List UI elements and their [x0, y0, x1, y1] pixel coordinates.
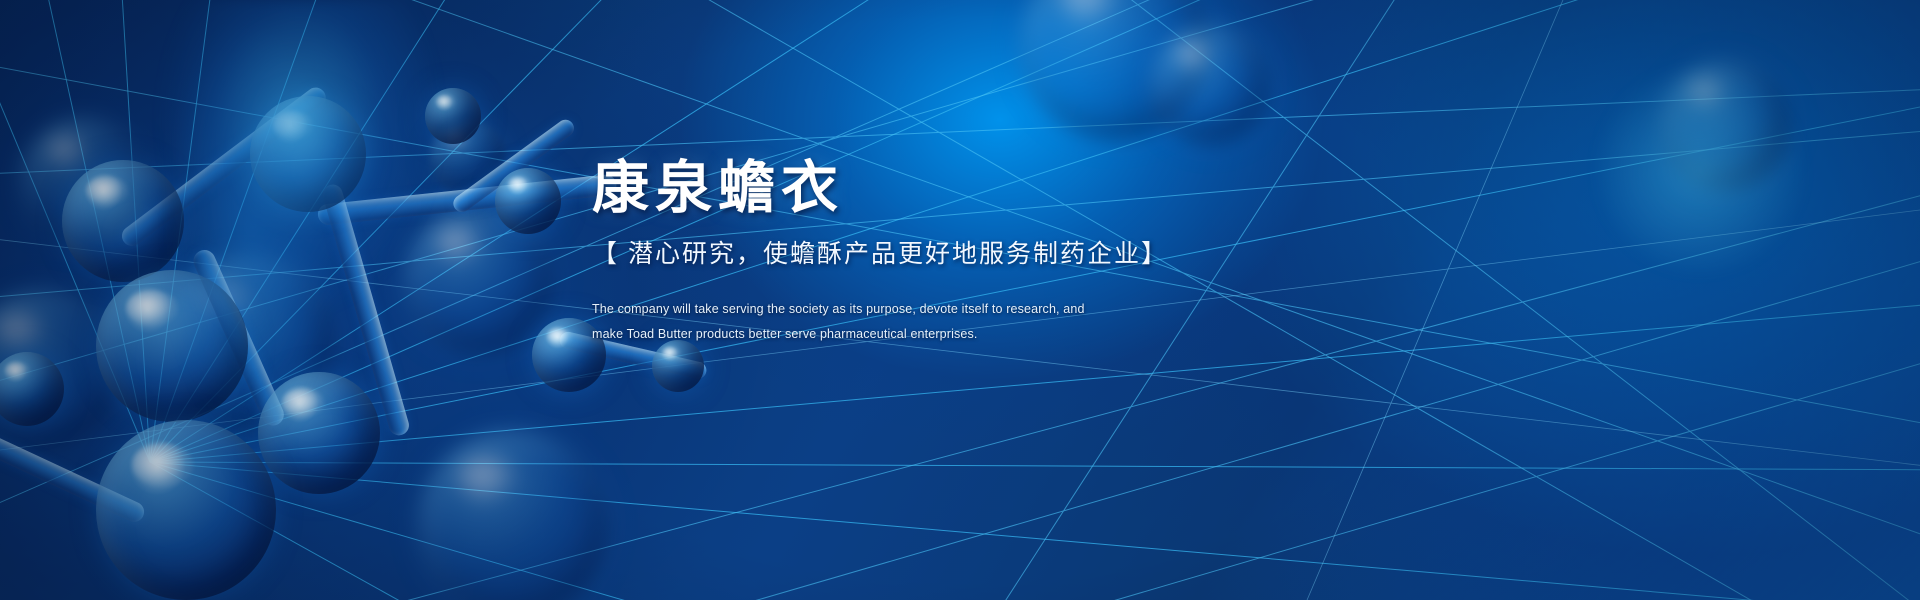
molecule-sphere-bg-5 [418, 430, 608, 600]
molecule-sphere-10 [96, 420, 276, 600]
banner-subtitle: 【 潜心研究，使蟾酥产品更好地服务制药企业】 [592, 239, 1412, 269]
molecule-sphere-2 [62, 160, 184, 282]
hero-banner: 康泉蟾衣 【 潜心研究，使蟾酥产品更好地服务制药企业】 The company … [0, 0, 1920, 600]
molecule-sphere-bg-7 [1150, 25, 1270, 145]
molecule-sphere-4 [495, 168, 561, 234]
banner-content: 康泉蟾衣 【 潜心研究，使蟾酥产品更好地服务制药企业】 The company … [592, 160, 1412, 347]
molecule-sphere-3 [425, 88, 481, 144]
banner-description-line-1: The company will take serving the societ… [592, 297, 1412, 322]
molecule-sphere-bg-8 [1660, 60, 1790, 190]
banner-description-line-2: make Toad Butter products better serve p… [592, 322, 1412, 347]
molecule-sphere-8 [258, 372, 380, 494]
molecule-sphere-1 [250, 96, 366, 212]
banner-description: The company will take serving the societ… [592, 297, 1412, 347]
molecule-sphere-7 [96, 270, 248, 422]
molecule-sphere-6 [652, 340, 704, 392]
banner-title: 康泉蟾衣 [592, 160, 1412, 217]
